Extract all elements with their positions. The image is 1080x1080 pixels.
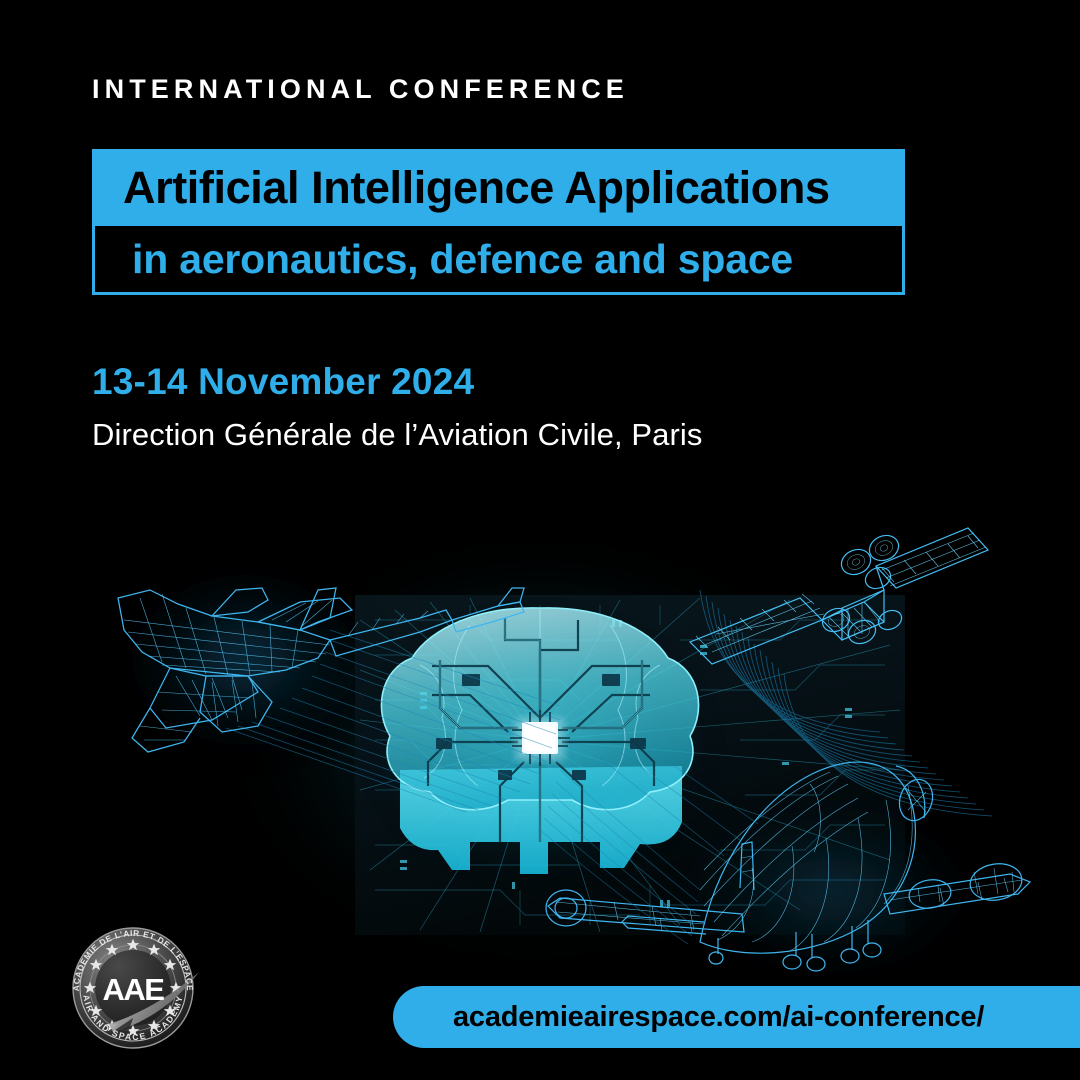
title-block: Artificial Intelligence Applications in … (92, 149, 905, 295)
logo-monogram: AAE (103, 972, 165, 1007)
cpu-chip (510, 710, 570, 766)
conference-poster: INTERNATIONAL CONFERENCE Artificial Inte… (0, 0, 1080, 1080)
website-url-banner[interactable]: academieairespace.com/ai-conference/ (393, 986, 1080, 1048)
event-venue: Direction Générale de l’Aviation Civile,… (92, 416, 703, 455)
kicker-label: INTERNATIONAL CONFERENCE (92, 76, 629, 103)
event-dates: 13-14 November 2024 (92, 363, 474, 400)
title-line-1: Artificial Intelligence Applications (92, 149, 905, 226)
title-line-2: in aeronautics, defence and space (92, 226, 905, 295)
website-url-text: academieairespace.com/ai-conference/ (453, 1001, 984, 1034)
aae-logo: ACADEMIE DE L’AIR ET DE L’ESPACE AIR AND… (57, 912, 209, 1064)
